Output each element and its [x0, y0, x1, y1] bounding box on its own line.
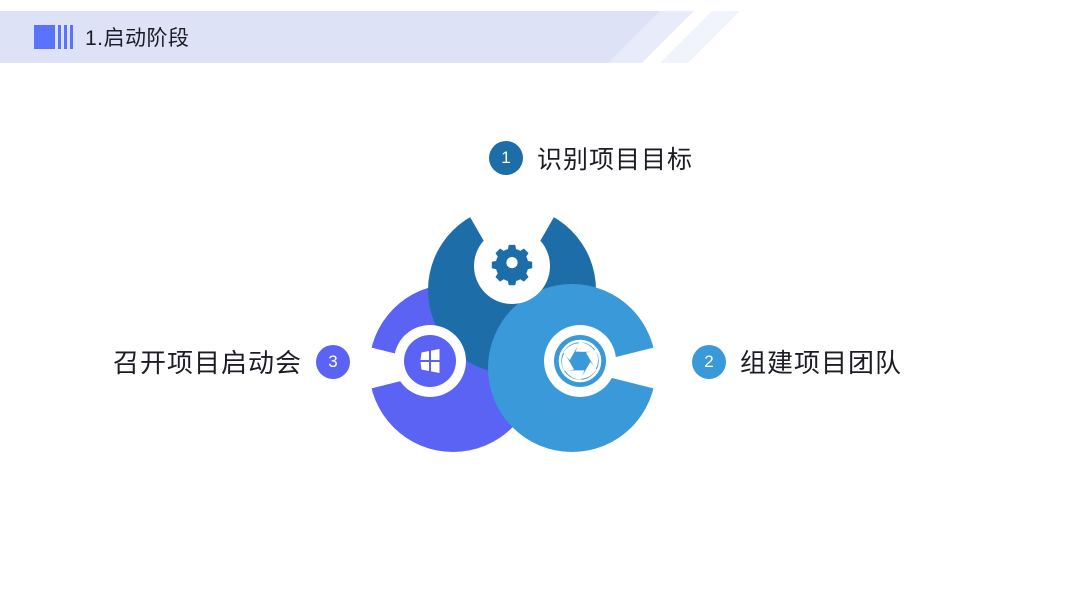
three-petal-flower-diagram: [0, 0, 1080, 608]
gear-icon: [492, 245, 532, 285]
step-label-1[interactable]: 1 识别项目目标: [489, 140, 693, 176]
petal-bottom-left-icon-disc[interactable]: [394, 325, 466, 397]
step-badge-2: 2: [692, 345, 726, 379]
step-label-2[interactable]: 2 组建项目团队: [692, 343, 902, 380]
step-badge-1: 1: [489, 141, 523, 175]
step-label-text-3: 召开项目启动会: [113, 343, 302, 380]
step-label-text-2: 组建项目团队: [740, 343, 902, 380]
petal-top-icon-disc[interactable]: [474, 228, 550, 304]
step-label-3[interactable]: 召开项目启动会 3: [113, 343, 350, 380]
step-label-text-1: 识别项目目标: [537, 140, 693, 176]
step-badge-3: 3: [316, 345, 350, 379]
petal-bottom-right-icon-disc[interactable]: [544, 325, 616, 397]
